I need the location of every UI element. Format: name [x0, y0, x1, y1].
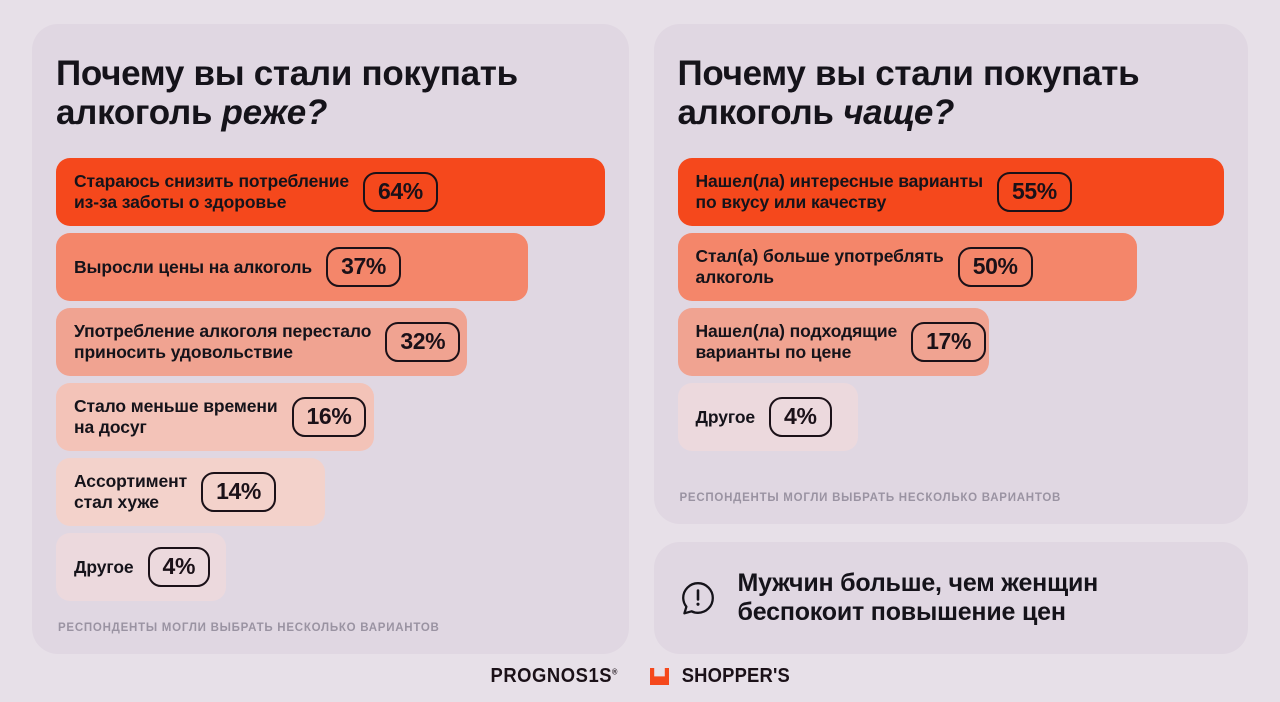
logo-shoppers: SHOPPER'S — [649, 665, 795, 688]
logo-prognosis: PROGNOS1S® — [491, 665, 618, 688]
bar-label: Ассортимент стал хуже — [74, 471, 187, 514]
right-column: Почему вы стали покупать алкоголь чаще? … — [654, 24, 1249, 702]
bar-value-badge: 16% — [292, 397, 367, 437]
bar-label: Другое — [74, 557, 134, 578]
bar-row[interactable]: Выросли цены на алкоголь 37% — [56, 233, 605, 301]
footer-logos: PROGNOS1S® SHOPPER'S — [0, 665, 1280, 688]
bar-label: Стараюсь снизить потребление из-за забот… — [74, 171, 349, 214]
bar-list-right: Нашел(ла) интересные варианты по вкусу и… — [678, 158, 1225, 451]
logo-prognosis-text: PROGNOS1S — [491, 665, 613, 687]
bar-value-badge: 37% — [326, 247, 401, 287]
title-emphasis: реже? — [222, 93, 328, 132]
footnote-right: РЕСПОНДЕНТЫ МОГЛИ ВЫБРАТЬ НЕСКОЛЬКО ВАРИ… — [680, 492, 1062, 504]
title-line-2: алкоголь — [678, 93, 844, 132]
bar-label: Стало меньше времени на досуг — [74, 396, 278, 439]
logo-shoppers-text: SHOPPER'S — [682, 665, 790, 688]
page-title-left: Почему вы стали покупать алкоголь реже? — [56, 54, 605, 132]
panel-less-often: Почему вы стали покупать алкоголь реже? … — [32, 24, 629, 654]
bar-value-badge: 50% — [958, 247, 1033, 287]
bar-value-badge: 17% — [911, 322, 986, 362]
bar-row[interactable]: Стараюсь снизить потребление из-за забот… — [56, 158, 605, 226]
left-column: Почему вы стали покупать алкоголь реже? … — [32, 24, 629, 702]
infographic-board: Почему вы стали покупать алкоголь реже? … — [0, 0, 1280, 702]
bar-label: Стал(а) больше употреблять алкоголь — [696, 246, 944, 289]
title-line-1: Почему вы стали покупать — [678, 54, 1140, 93]
bar-row[interactable]: Употребление алкоголя перестало приносит… — [56, 308, 605, 376]
bar-value-badge: 4% — [769, 397, 831, 437]
bar-row[interactable]: Другое 4% — [678, 383, 1225, 451]
bar-row[interactable]: Нашел(ла) интересные варианты по вкусу и… — [678, 158, 1225, 226]
callout-card: Мужчин больше, чем женщин беспокоит повы… — [654, 542, 1249, 654]
bar-value-badge: 64% — [363, 172, 438, 212]
bar-row[interactable]: Нашел(ла) подходящие варианты по цене 17… — [678, 308, 1225, 376]
bar-row[interactable]: Стал(а) больше употреблять алкоголь 50% — [678, 233, 1225, 301]
shopping-basket-icon — [649, 667, 670, 686]
footnote-left: РЕСПОНДЕНТЫ МОГЛИ ВЫБРАТЬ НЕСКОЛЬКО ВАРИ… — [58, 622, 440, 634]
bar-label: Нашел(ла) подходящие варианты по цене — [696, 321, 898, 364]
bar-label: Употребление алкоголя перестало приносит… — [74, 321, 371, 364]
bar-row[interactable]: Другое 4% — [56, 533, 605, 601]
title-line-1: Почему вы стали покупать — [56, 54, 518, 93]
bar-label: Выросли цены на алкоголь — [74, 257, 312, 278]
bar-value-badge: 32% — [385, 322, 460, 362]
bar-value-badge: 55% — [997, 172, 1072, 212]
bar-list-left: Стараюсь снизить потребление из-за забот… — [56, 158, 605, 601]
exclamation-speech-bubble-icon — [680, 580, 716, 616]
bar-row[interactable]: Ассортимент стал хуже 14% — [56, 458, 605, 526]
bar-row[interactable]: Стало меньше времени на досуг 16% — [56, 383, 605, 451]
panel-more-often: Почему вы стали покупать алкоголь чаще? … — [654, 24, 1249, 524]
logo-prognosis-tm: ® — [612, 667, 617, 676]
callout-text: Мужчин больше, чем женщин беспокоит повы… — [738, 569, 1099, 628]
bar-value-badge: 4% — [148, 547, 210, 587]
page-title-right: Почему вы стали покупать алкоголь чаще? — [678, 54, 1225, 132]
title-line-2: алкоголь — [56, 93, 222, 132]
bar-label: Нашел(ла) интересные варианты по вкусу и… — [696, 171, 983, 214]
title-emphasis: чаще? — [843, 93, 954, 132]
bar-value-badge: 14% — [201, 472, 276, 512]
bar-label: Другое — [696, 407, 756, 428]
